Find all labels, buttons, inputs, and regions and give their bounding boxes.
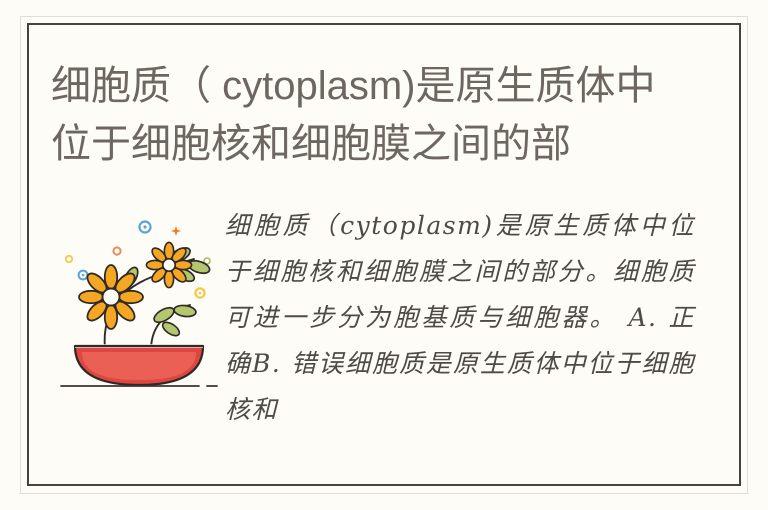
inner-content-frame: 细胞质（ cytoplasm)是原生质体中位于细胞核和细胞膜之间的部 xyxy=(27,23,741,486)
bowl xyxy=(75,346,203,385)
page-title: 细胞质（ cytoplasm)是原生质体中位于细胞核和细胞膜之间的部 xyxy=(51,57,691,173)
body-paragraph: 细胞质（cytoplasm)是原生质体中位于细胞核和细胞膜之间的部分。细胞质可进… xyxy=(225,203,695,433)
flower-large xyxy=(79,265,143,329)
flower-pot-illustration xyxy=(59,215,219,395)
content-area: 细胞质（cytoplasm)是原生质体中位于细胞核和细胞膜之间的部分。细胞质可进… xyxy=(29,195,741,486)
flower-small xyxy=(146,242,191,287)
screenshot-root: 细胞质（ cytoplasm)是原生质体中位于细胞核和细胞膜之间的部 xyxy=(0,0,768,510)
